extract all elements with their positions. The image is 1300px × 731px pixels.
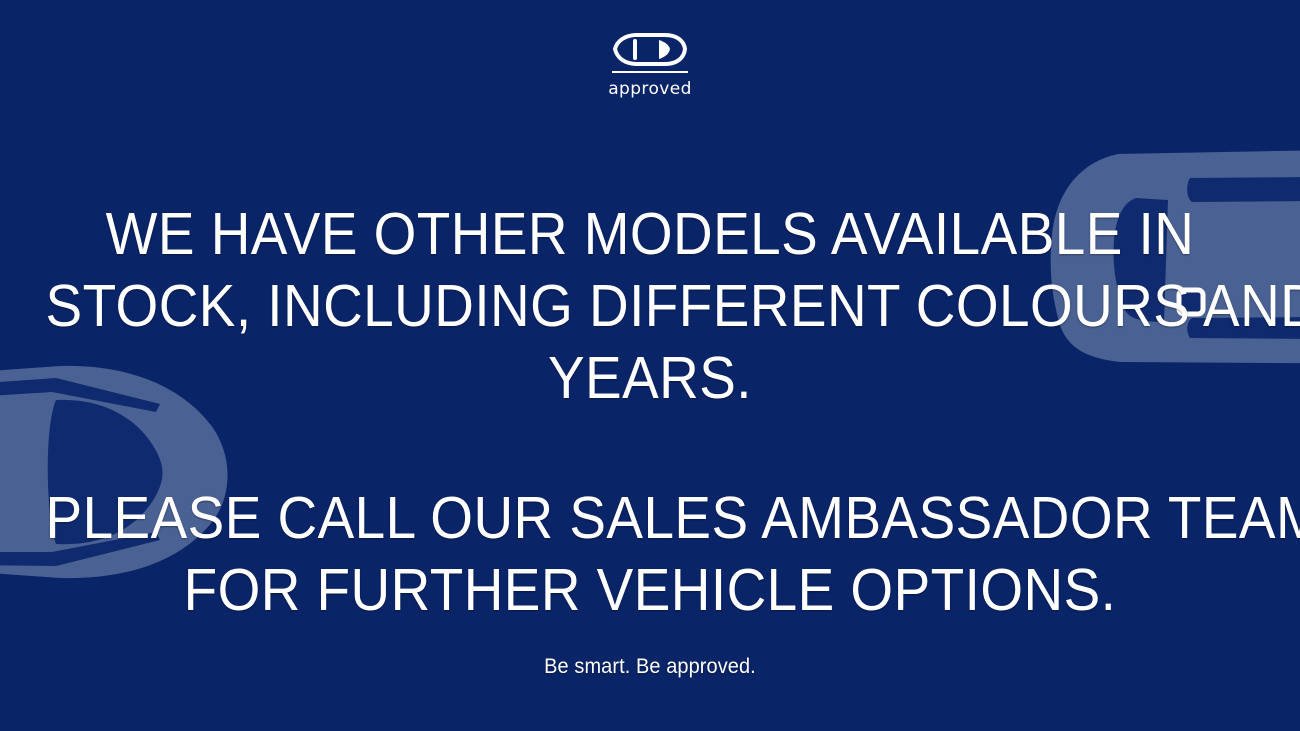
headline-primary-line-3: YEARS. bbox=[46, 342, 1255, 414]
slide-content: WE HAVE OTHER MODELS AVAILABLE IN STOCK,… bbox=[0, 0, 1300, 731]
headline-secondary-line-1: PLEASE CALL OUR SALES AMBASSADOR TEAM bbox=[46, 482, 1255, 554]
tagline: Be smart. Be approved. bbox=[33, 655, 1268, 679]
headline-primary-line-1: WE HAVE OTHER MODELS AVAILABLE IN bbox=[46, 198, 1255, 270]
headline-primary-line-2: STOCK, INCLUDING DIFFERENT COLOURS AND bbox=[46, 270, 1255, 342]
promo-slide: approved WE HAVE OTHER MODELS AVAILABLE … bbox=[0, 0, 1300, 731]
headline-secondary: PLEASE CALL OUR SALES AMBASSADOR TEAM FO… bbox=[46, 482, 1255, 626]
headline-secondary-line-2: FOR FURTHER VEHICLE OPTIONS. bbox=[46, 554, 1255, 626]
headline-primary: WE HAVE OTHER MODELS AVAILABLE IN STOCK,… bbox=[46, 198, 1255, 414]
